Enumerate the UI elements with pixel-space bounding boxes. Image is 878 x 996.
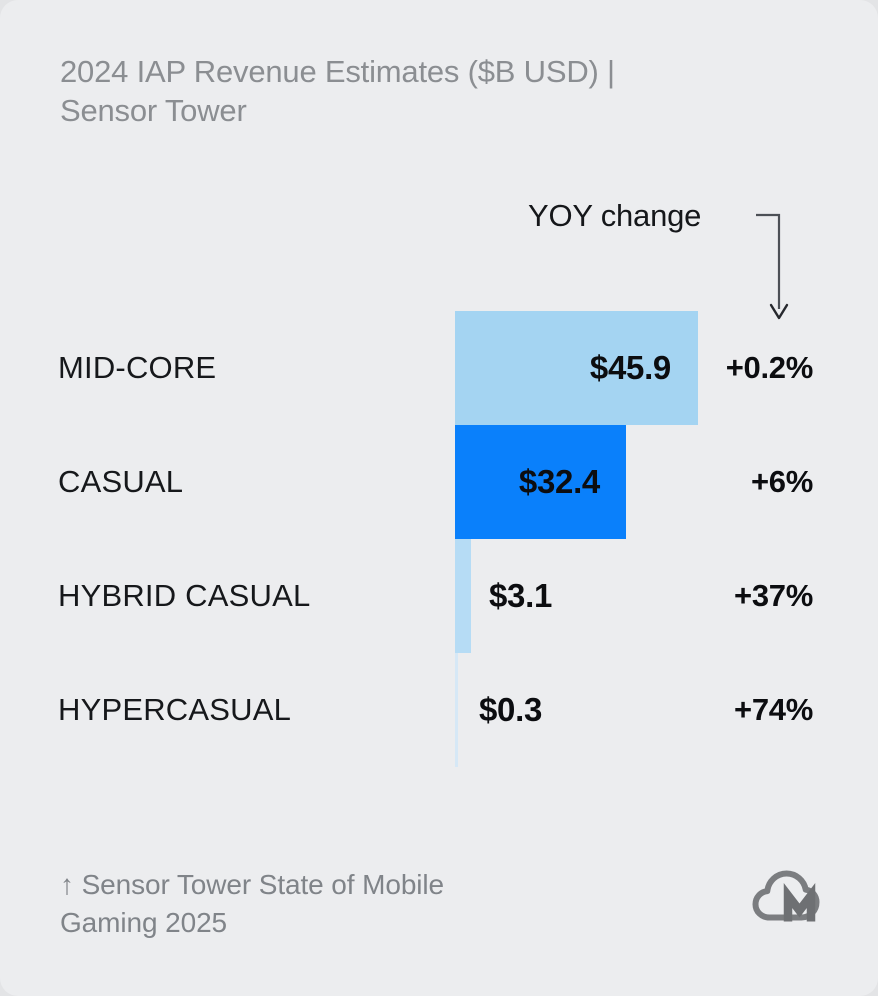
bar-hypercasual: [455, 653, 458, 767]
chart-row-mid-core: MID-CORE $45.9 +0.2%: [0, 311, 878, 425]
chart-title: 2024 IAP Revenue Estimates ($B USD) | Se…: [60, 52, 720, 130]
chart-row-hypercasual: HYPERCASUAL $0.3 +74%: [0, 653, 878, 767]
infographic-canvas: 2024 IAP Revenue Estimates ($B USD) | Se…: [0, 0, 878, 996]
yoy-value-mid-core: +0.2%: [726, 311, 813, 425]
bar-hybrid-casual: [455, 539, 471, 653]
yoy-change-annotation-label: YOY change: [528, 197, 701, 235]
value-label-casual: $32.4: [455, 425, 626, 539]
bar-chart: MID-CORE $45.9 +0.2% CASUAL $32.4 +6% HY…: [0, 311, 878, 771]
cloud-m-logo-icon: [752, 866, 820, 928]
category-label-hybrid-casual: HYBRID CASUAL: [58, 539, 310, 653]
chart-row-casual: CASUAL $32.4 +6%: [0, 425, 878, 539]
source-attribution: ↑ Sensor Tower State of Mobile Gaming 20…: [60, 866, 660, 942]
value-label-hypercasual: $0.3: [479, 653, 542, 767]
yoy-value-hybrid-casual: +37%: [734, 539, 813, 653]
chart-row-hybrid-casual: HYBRID CASUAL $3.1 +37%: [0, 539, 878, 653]
category-label-casual: CASUAL: [58, 425, 183, 539]
category-label-hypercasual: HYPERCASUAL: [58, 653, 291, 767]
yoy-value-hypercasual: +74%: [734, 653, 813, 767]
value-label-hybrid-casual: $3.1: [489, 539, 552, 653]
category-label-mid-core: MID-CORE: [58, 311, 216, 425]
value-label-mid-core: $45.9: [455, 311, 698, 425]
yoy-value-casual: +6%: [751, 425, 813, 539]
